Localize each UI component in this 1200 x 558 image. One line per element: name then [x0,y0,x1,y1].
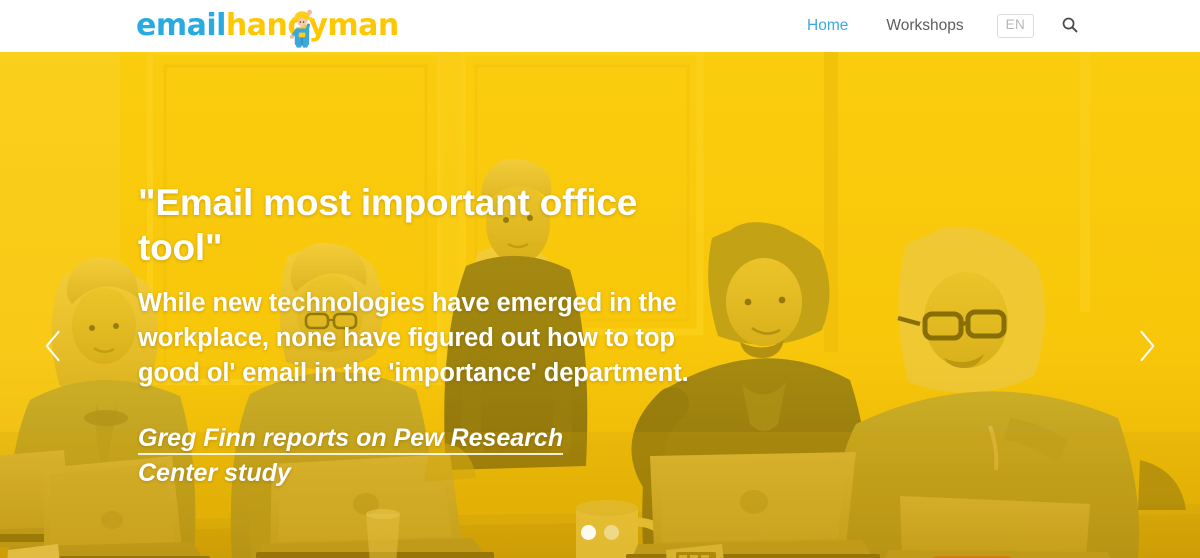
nav-item-workshops[interactable]: Workshops [867,0,982,52]
slider-pagination [0,525,1200,540]
language-switcher[interactable]: EN [997,14,1034,38]
hero-source-link-line1: Greg Finn reports on Pew Research [138,424,563,455]
hero-source-link-line2: Center study [138,456,563,491]
hero-subtitle: While new technologies have emerged in t… [138,286,698,391]
chevron-right-icon [1136,328,1158,367]
hero-slider: "Email most important office tool" While… [0,52,1200,558]
hero-slide-content: "Email most important office tool" While… [138,180,698,491]
main-navigation: Home Workshops EN [788,0,1082,52]
nav-item-home[interactable]: Home [788,0,867,52]
brand-text-handyman: handyman [226,8,399,43]
slider-dot-2[interactable] [604,525,619,540]
hero-source-link[interactable]: Greg Finn reports on Pew ResearchCenter … [138,421,563,491]
hero-headline: "Email most important office tool" [138,180,698,270]
brand-wordmark: emailhandyman [136,11,399,41]
site-header: emailhandyman [0,0,1200,52]
search-button[interactable] [1058,14,1082,38]
chevron-left-icon [42,328,64,367]
slider-dot-1[interactable] [581,525,596,540]
slider-next-button[interactable] [1124,324,1170,370]
search-icon [1061,16,1079,37]
brand-logo[interactable]: emailhandyman [136,4,399,48]
slider-prev-button[interactable] [30,324,76,370]
brand-text-email: email [136,8,226,43]
